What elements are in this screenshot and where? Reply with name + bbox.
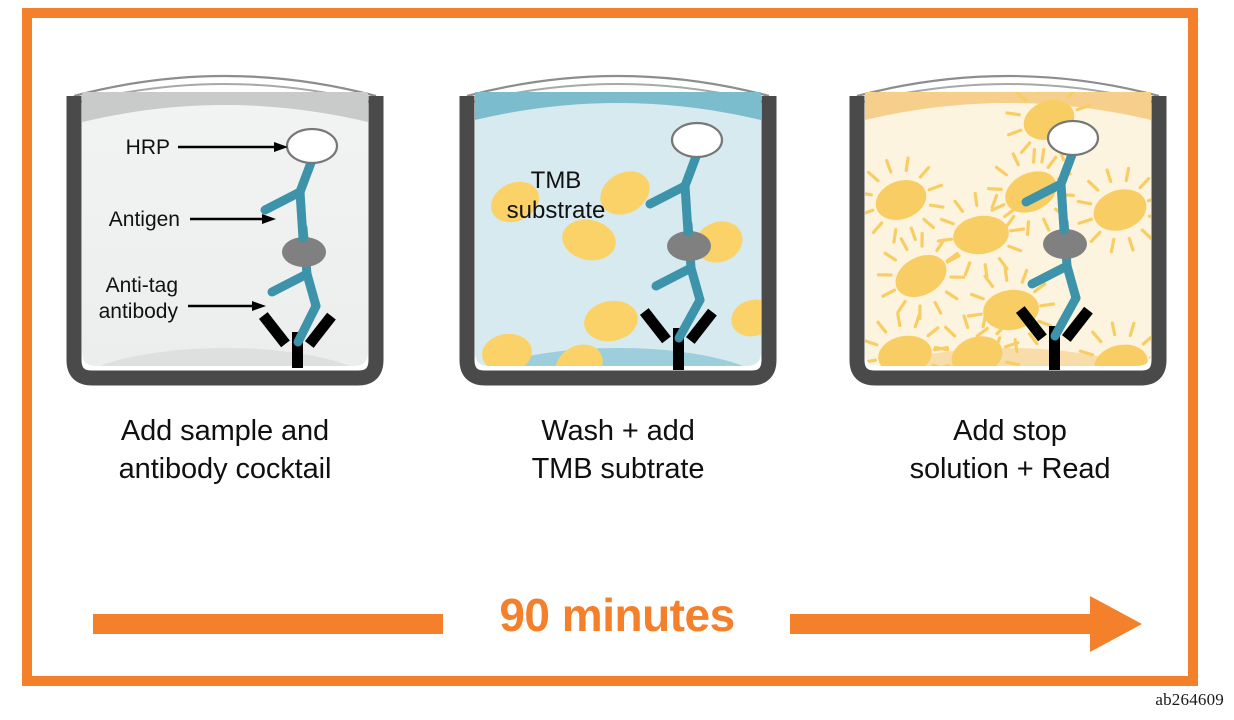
hrp-glyph-1 (287, 129, 337, 163)
label-tmb-substrate-line2: substrate (507, 197, 606, 224)
caption-panel-3-line1: Add stop (790, 412, 1230, 450)
caption-panel-2-line1: Wash + add (448, 412, 788, 450)
timeline-bar-right (790, 614, 1098, 634)
label-antigen: Antigen (109, 208, 180, 231)
panel-1-well: HRP Antigen Anti-tag antibody (60, 60, 390, 390)
label-anti-tag-antibody-line1: Anti-tag (106, 274, 178, 297)
timeline-arrowhead-icon (1090, 596, 1142, 652)
caption-panel-1-line2: antibody cocktail (55, 450, 395, 488)
caption-panel-2-line2: TMB subtrate (448, 450, 788, 488)
figure-canvas: HRP Antigen Anti-tag antibody (0, 0, 1234, 720)
well-3-graphic (843, 60, 1173, 390)
caption-panel-3: Add stop solution + Read (790, 412, 1230, 489)
product-code-watermark: ab264609 (1155, 690, 1224, 710)
panels-row: HRP Antigen Anti-tag antibody (0, 0, 1234, 400)
label-hrp: HRP (126, 136, 170, 159)
well-contents-2 (466, 92, 779, 390)
panel-3-well (843, 60, 1173, 390)
well-1-graphic: HRP Antigen Anti-tag antibody (60, 60, 390, 390)
label-tmb-substrate-line1: TMB (531, 167, 582, 194)
caption-panel-2: Wash + add TMB subtrate (448, 412, 788, 489)
well-2-graphic: TMB substrate (453, 60, 783, 390)
well-contents-3 (846, 66, 1173, 390)
hrp-glyph-3 (1048, 121, 1098, 155)
caption-panel-3-line2: solution + Read (790, 450, 1230, 488)
caption-panel-1: Add sample and antibody cocktail (55, 412, 395, 489)
panel-2-well: TMB substrate (453, 60, 783, 390)
label-anti-tag-antibody-line2: antibody (99, 300, 179, 323)
timeline-bar-left (93, 614, 443, 634)
caption-panel-1-line1: Add sample and (55, 412, 395, 450)
timeline-arrow (0, 586, 1234, 666)
hrp-glyph-2 (672, 123, 722, 157)
